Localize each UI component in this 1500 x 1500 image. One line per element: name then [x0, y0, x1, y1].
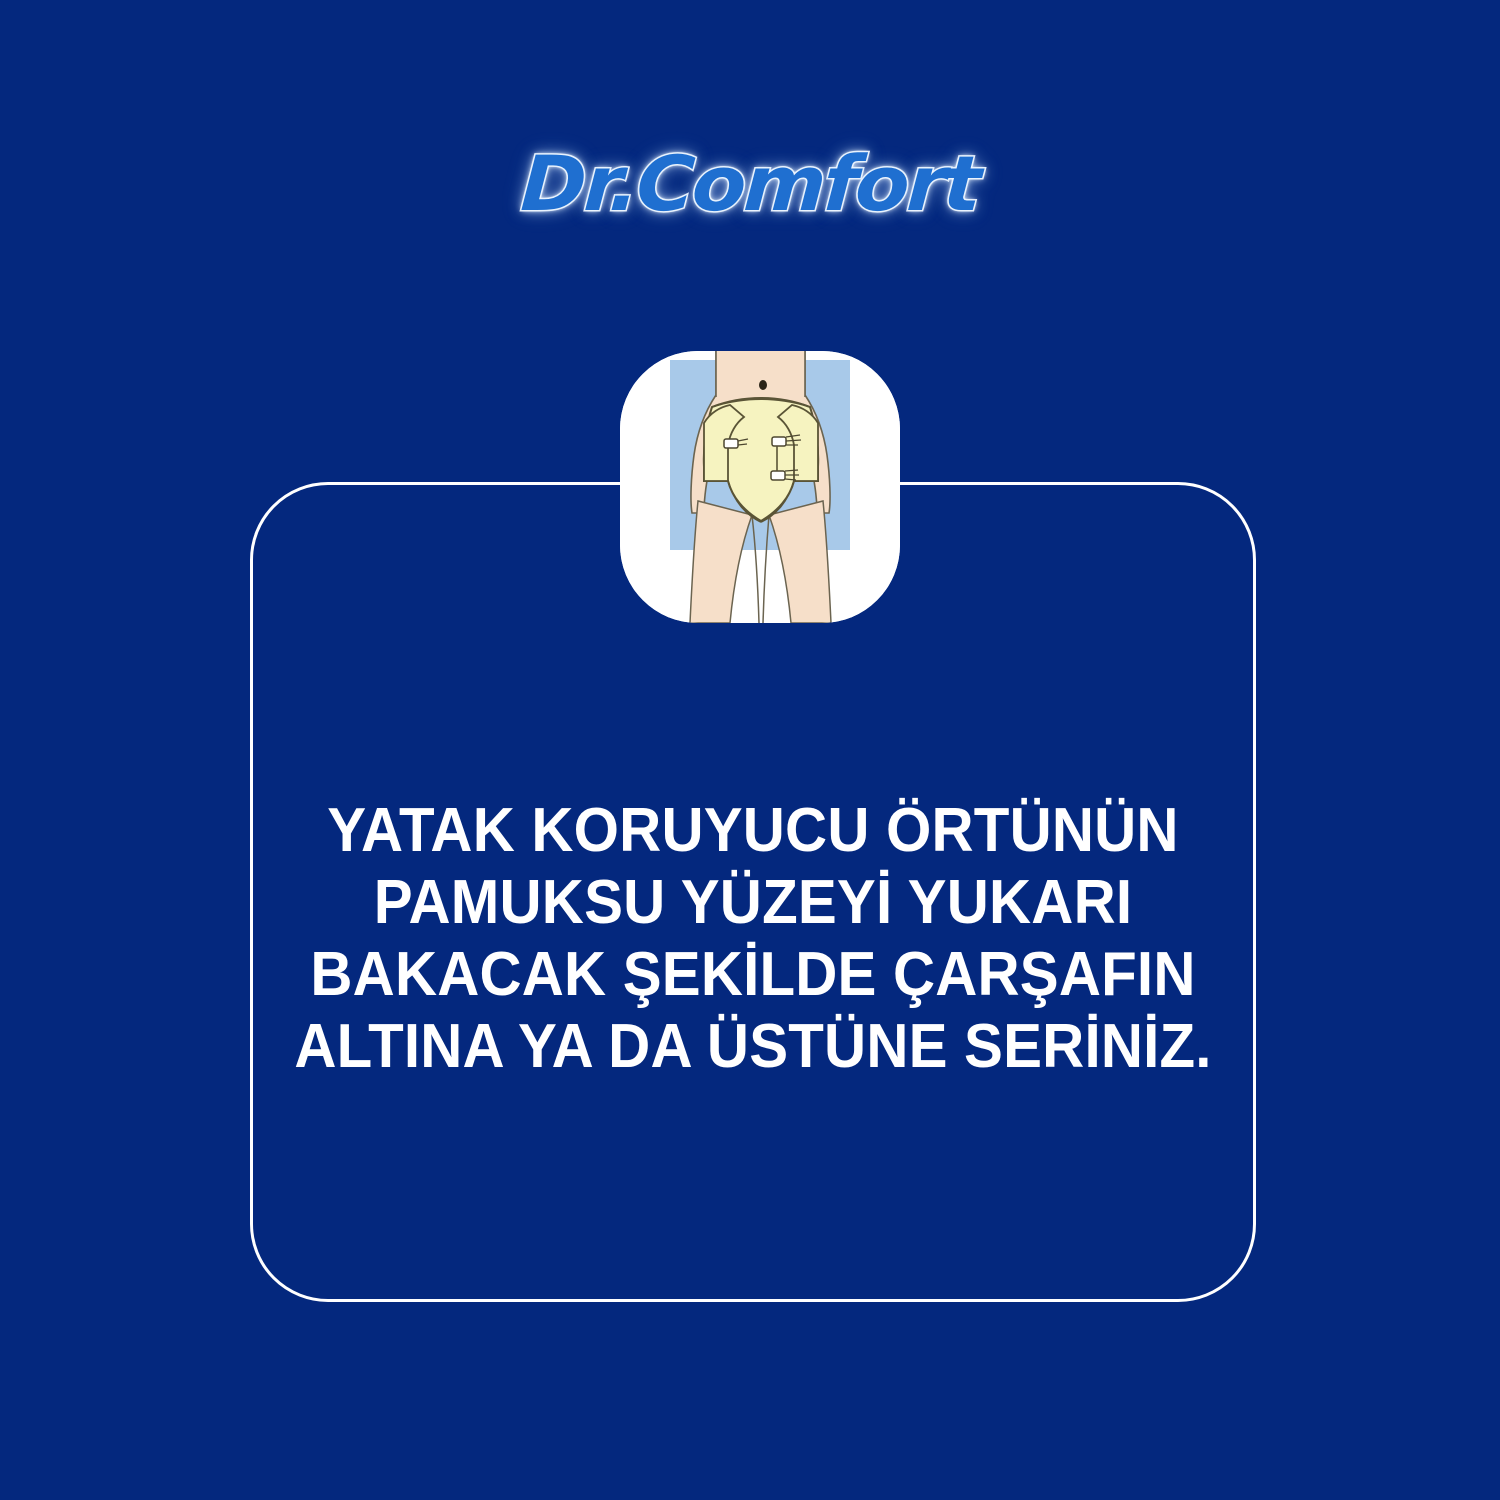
instruction-line-3: BAKACAK ŞEKİLDE ÇARŞAFIN: [280, 939, 1226, 1011]
navel-dot: [759, 380, 767, 390]
instruction-line-1: YATAK KORUYUCU ÖRTÜNÜN: [280, 795, 1226, 867]
incontinence-brief-icon: [620, 351, 900, 623]
brand-logo: Dr.Comfort: [0, 138, 1500, 230]
adult-brief-illustration-svg: [620, 351, 900, 623]
instruction-text-block: YATAK KORUYUCU ÖRTÜNÜN PAMUKSU YÜZEYİ YU…: [280, 795, 1226, 1083]
abdomen-skin: [716, 351, 805, 399]
instruction-line-4: ALTINA YA DA ÜSTÜNE SERİNİZ.: [280, 1011, 1226, 1083]
instruction-line-2: PAMUKSU YÜZEYİ YUKARI: [280, 867, 1226, 939]
brand-logo-text: Dr.Comfort: [519, 138, 981, 230]
poster-canvas: Dr.Comfort: [0, 0, 1500, 1500]
